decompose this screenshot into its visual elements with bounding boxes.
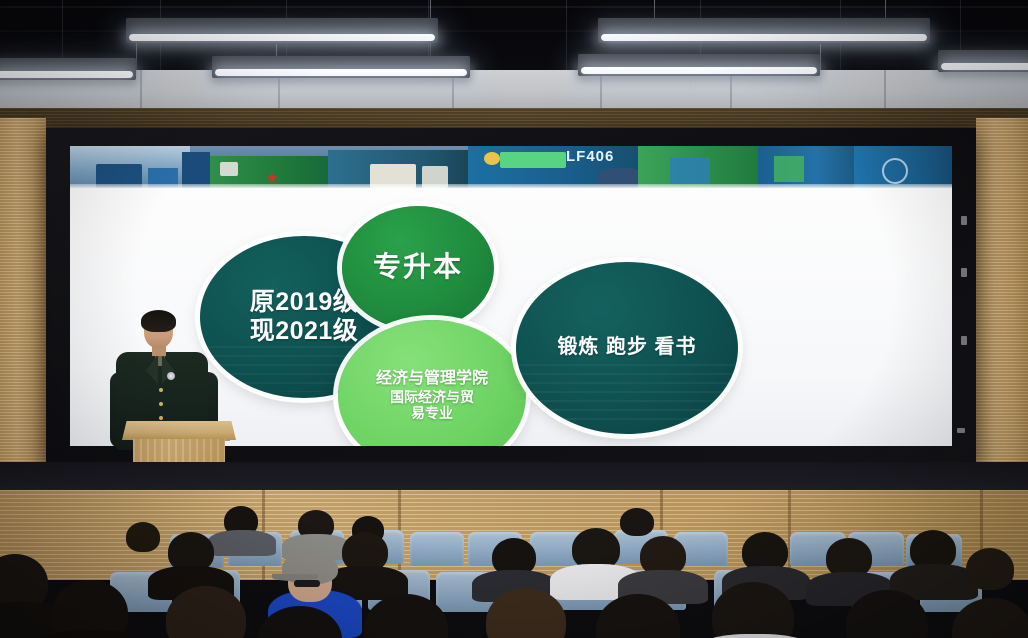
pendant-light-5	[578, 54, 820, 76]
speaker-hair	[141, 310, 176, 332]
pendant-light-1	[0, 58, 136, 80]
military-vehicle-photo-strip: LF406	[70, 146, 952, 188]
bubble-hobbies: 锻炼 跑步 看书	[516, 262, 738, 434]
speaker-uniform-badge	[167, 372, 175, 380]
bubble-school-major-line2: 国际经济与贸	[390, 389, 474, 405]
podium-top	[122, 421, 236, 440]
pendant-light-4	[598, 18, 930, 43]
bubble-class-year-text: 原2019级 现2021级	[250, 288, 359, 347]
bubble-class-year-line2: 现2021级	[250, 317, 359, 345]
bubble-program-track-text: 专升本	[373, 251, 463, 284]
bubble-hobbies-text: 锻炼 跑步 看书	[557, 336, 696, 360]
bubble-school-major-text: 经济与管理学院 国际经济与贸 易专业	[376, 370, 488, 422]
bubble-school-major-line1: 经济与管理学院	[376, 370, 488, 389]
pendant-light-2	[126, 18, 438, 43]
pendant-light-3	[212, 56, 470, 78]
bubble-program-track: 专升本	[342, 206, 494, 330]
pendant-light-6	[938, 50, 1028, 72]
auditorium-photo: LF406 原2019级 现2021级	[0, 0, 1028, 638]
bubble-school-major-line3: 易专业	[411, 405, 453, 421]
audience	[0, 470, 1028, 638]
bubble-class-year-line1: 原2019级	[250, 288, 359, 316]
